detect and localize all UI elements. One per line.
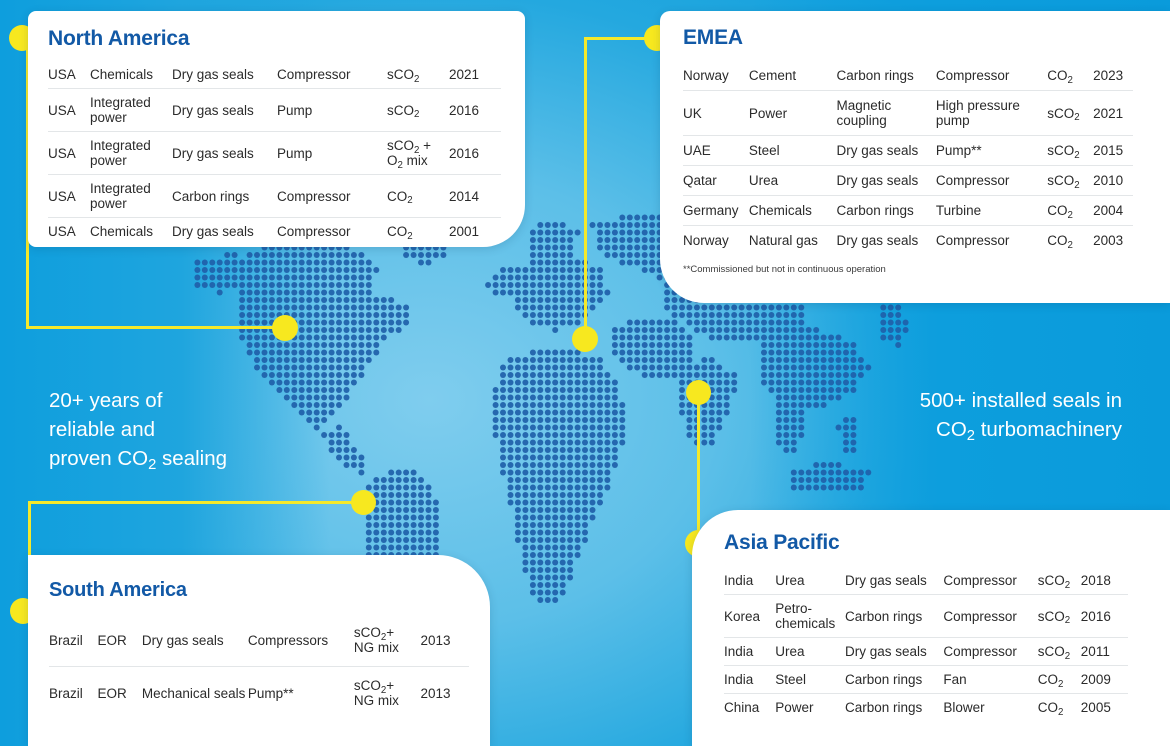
table-row: NorwayNatural gasDry gas sealsCompressor… xyxy=(683,226,1133,256)
cell-medium: sCO2 xyxy=(1038,567,1081,595)
cell-year: 2016 xyxy=(449,132,501,175)
cell-industry: Urea xyxy=(775,638,845,666)
connector-north-america-horizontal xyxy=(26,326,285,329)
cell-medium: sCO2 xyxy=(387,61,449,89)
cell-medium: sCO2 xyxy=(1038,638,1081,666)
cell-medium: sCO2+NG mix xyxy=(354,667,421,720)
cell-industry: Petro-chemicals xyxy=(775,595,845,638)
cell-year: 2004 xyxy=(1093,196,1133,226)
cell-seal-type: Dry gas seals xyxy=(836,136,935,166)
cell-industry: Urea xyxy=(775,567,845,595)
connector-south-america-horizontal xyxy=(28,501,364,504)
card-emea: EMEA NorwayCementCarbon ringsCompressorC… xyxy=(660,11,1170,303)
cell-industry: Cement xyxy=(749,61,837,91)
marker-south-america-map xyxy=(351,490,376,515)
cell-industry: Chemicals xyxy=(90,61,172,89)
cell-country: India xyxy=(724,638,775,666)
cell-equipment: Compressor xyxy=(943,595,1037,638)
cell-industry: Integrated power xyxy=(90,132,172,175)
cell-equipment: Pump** xyxy=(936,136,1047,166)
connector-emea-vertical xyxy=(584,37,587,339)
table-asia-pacific: IndiaUreaDry gas sealsCompressorsCO22018… xyxy=(724,567,1128,721)
cell-industry: Integrated power xyxy=(90,175,172,218)
card-north-america: North America USAChemicalsDry gas sealsC… xyxy=(28,11,525,247)
cell-year: 2013 xyxy=(421,667,470,720)
cell-year: 2011 xyxy=(1081,638,1128,666)
cell-equipment: Compressor xyxy=(277,61,387,89)
cell-country: USA xyxy=(48,218,90,246)
cell-industry: Steel xyxy=(775,666,845,694)
cell-medium: CO2 xyxy=(1047,61,1093,91)
card-title-asia-pacific: Asia Pacific xyxy=(724,531,1170,555)
table-row: UAESteelDry gas sealsPump**sCO22015 xyxy=(683,136,1133,166)
cell-medium: sCO2 xyxy=(1047,91,1093,136)
cell-year: 2003 xyxy=(1093,226,1133,256)
marker-north-america-map xyxy=(272,315,298,341)
cell-medium: CO2 xyxy=(1038,666,1081,694)
callout-left-line2: reliable and xyxy=(49,415,309,444)
cell-medium: sCO2 +O2 mix xyxy=(387,132,449,175)
cell-country: Korea xyxy=(724,595,775,638)
cell-seal-type: Carbon rings xyxy=(172,175,277,218)
table-row: IndiaUreaDry gas sealsCompressorsCO22018 xyxy=(724,567,1128,595)
cell-year: 2005 xyxy=(1081,694,1128,722)
callout-right: 500+ installed seals in CO2 turbomachine… xyxy=(832,386,1122,447)
table-row: USAChemicalsDry gas sealsCompressorCO220… xyxy=(48,218,501,246)
cell-medium: sCO2 xyxy=(1047,166,1093,196)
cell-industry: EOR xyxy=(97,667,141,720)
cell-industry: Natural gas xyxy=(749,226,837,256)
cell-medium: CO2 xyxy=(387,175,449,218)
cell-country: USA xyxy=(48,89,90,132)
cell-country: Norway xyxy=(683,226,749,256)
cell-medium: sCO2+NG mix xyxy=(354,614,421,667)
marker-emea-map xyxy=(572,326,598,352)
cell-seal-type: Dry gas seals xyxy=(836,226,935,256)
callout-left-line3: proven CO2 sealing xyxy=(49,444,309,476)
cell-equipment: Fan xyxy=(943,666,1037,694)
cell-country: Germany xyxy=(683,196,749,226)
callout-left: 20+ years of reliable and proven CO2 sea… xyxy=(49,386,309,476)
cell-medium: sCO2 xyxy=(1047,136,1093,166)
card-title-emea: EMEA xyxy=(683,26,1170,50)
cell-medium: CO2 xyxy=(1047,226,1093,256)
cell-medium: CO2 xyxy=(387,218,449,246)
cell-country: China xyxy=(724,694,775,722)
cell-medium: CO2 xyxy=(1038,694,1081,722)
cell-year: 2013 xyxy=(421,614,470,667)
cell-industry: Chemicals xyxy=(90,218,172,246)
table-row: BrazilEORMechanical sealsPump**sCO2+NG m… xyxy=(49,667,469,720)
callout-left-line1: 20+ years of xyxy=(49,386,309,415)
cell-industry: Power xyxy=(749,91,837,136)
marker-asia-pacific-map xyxy=(686,380,711,405)
cell-equipment: Pump xyxy=(277,132,387,175)
cell-year: 2001 xyxy=(449,218,501,246)
cell-country: USA xyxy=(48,175,90,218)
cell-year: 2023 xyxy=(1093,61,1133,91)
table-row: USAIntegrated powerDry gas sealsPumpsCO2… xyxy=(48,89,501,132)
cell-country: USA xyxy=(48,132,90,175)
cell-seal-type: Magnetic coupling xyxy=(836,91,935,136)
table-row: GermanyChemicalsCarbon ringsTurbineCO220… xyxy=(683,196,1133,226)
cell-year: 2009 xyxy=(1081,666,1128,694)
card-title-south-america: South America xyxy=(49,579,490,602)
cell-year: 2014 xyxy=(449,175,501,218)
cell-country: Brazil xyxy=(49,614,97,667)
cell-seal-type: Dry gas seals xyxy=(845,567,943,595)
cell-country: Qatar xyxy=(683,166,749,196)
cell-industry: Steel xyxy=(749,136,837,166)
table-row: KoreaPetro-chemicalsCarbon ringsCompress… xyxy=(724,595,1128,638)
cell-year: 2021 xyxy=(1093,91,1133,136)
cell-medium: sCO2 xyxy=(1038,595,1081,638)
cell-country: UAE xyxy=(683,136,749,166)
table-row: UKPowerMagnetic couplingHigh pressure pu… xyxy=(683,91,1133,136)
cell-equipment: Compressor xyxy=(943,567,1037,595)
table-row: IndiaUreaDry gas sealsCompressorsCO22011 xyxy=(724,638,1128,666)
table-south-america: BrazilEORDry gas sealsCompressorssCO2+NG… xyxy=(49,614,469,719)
card-south-america: South America BrazilEORDry gas sealsComp… xyxy=(28,555,490,746)
table-north-america: USAChemicalsDry gas sealsCompressorsCO22… xyxy=(48,61,501,245)
connector-asia-pacific-vertical xyxy=(697,391,700,543)
cell-equipment: Turbine xyxy=(936,196,1047,226)
table-row: USAChemicalsDry gas sealsCompressorsCO22… xyxy=(48,61,501,89)
cell-country: UK xyxy=(683,91,749,136)
cell-year: 2016 xyxy=(449,89,501,132)
callout-right-line1: 500+ installed seals in xyxy=(832,386,1122,415)
cell-seal-type: Dry gas seals xyxy=(172,132,277,175)
cell-seal-type: Carbon rings xyxy=(836,196,935,226)
cell-year: 2021 xyxy=(449,61,501,89)
cell-seal-type: Carbon rings xyxy=(836,61,935,91)
cell-country: USA xyxy=(48,61,90,89)
table-row: ChinaPowerCarbon ringsBlowerCO22005 xyxy=(724,694,1128,722)
cell-seal-type: Carbon rings xyxy=(845,694,943,722)
cell-seal-type: Dry gas seals xyxy=(172,89,277,132)
cell-seal-type: Dry gas seals xyxy=(836,166,935,196)
emea-footnote: **Commissioned but not in continuous ope… xyxy=(683,264,1170,275)
table-row: IndiaSteelCarbon ringsFanCO22009 xyxy=(724,666,1128,694)
cell-equipment: Compressor xyxy=(936,61,1047,91)
infographic-canvas: 20+ years of reliable and proven CO2 sea… xyxy=(0,0,1170,746)
cell-seal-type: Dry gas seals xyxy=(142,614,248,667)
cell-country: India xyxy=(724,666,775,694)
cell-seal-type: Mechanical seals xyxy=(142,667,248,720)
cell-seal-type: Carbon rings xyxy=(845,666,943,694)
cell-industry: EOR xyxy=(97,614,141,667)
cell-year: 2010 xyxy=(1093,166,1133,196)
cell-year: 2018 xyxy=(1081,567,1128,595)
card-title-north-america: North America xyxy=(48,27,525,51)
cell-year: 2016 xyxy=(1081,595,1128,638)
table-emea: NorwayCementCarbon ringsCompressorCO2202… xyxy=(683,61,1133,255)
cell-equipment: Pump xyxy=(277,89,387,132)
cell-equipment: Compressor xyxy=(943,638,1037,666)
cell-medium: CO2 xyxy=(1047,196,1093,226)
table-row: QatarUreaDry gas sealsCompressorsCO22010 xyxy=(683,166,1133,196)
cell-country: Norway xyxy=(683,61,749,91)
cell-equipment: Compressors xyxy=(248,614,354,667)
table-row: NorwayCementCarbon ringsCompressorCO2202… xyxy=(683,61,1133,91)
cell-equipment: High pressure pump xyxy=(936,91,1047,136)
cell-medium: sCO2 xyxy=(387,89,449,132)
cell-year: 2015 xyxy=(1093,136,1133,166)
cell-seal-type: Dry gas seals xyxy=(845,638,943,666)
cell-equipment: Compressor xyxy=(277,175,387,218)
table-row: USAIntegrated powerDry gas sealsPumpsCO2… xyxy=(48,132,501,175)
cell-equipment: Compressor xyxy=(936,166,1047,196)
cell-seal-type: Dry gas seals xyxy=(172,61,277,89)
cell-country: India xyxy=(724,567,775,595)
cell-equipment: Pump** xyxy=(248,667,354,720)
card-asia-pacific: Asia Pacific IndiaUreaDry gas sealsCompr… xyxy=(692,510,1170,746)
cell-industry: Integrated power xyxy=(90,89,172,132)
table-row: BrazilEORDry gas sealsCompressorssCO2+NG… xyxy=(49,614,469,667)
cell-equipment: Compressor xyxy=(277,218,387,246)
cell-seal-type: Carbon rings xyxy=(845,595,943,638)
table-row: USAIntegrated powerCarbon ringsCompresso… xyxy=(48,175,501,218)
callout-right-line2: CO2 turbomachinery xyxy=(832,415,1122,447)
cell-equipment: Compressor xyxy=(936,226,1047,256)
cell-industry: Urea xyxy=(749,166,837,196)
cell-seal-type: Dry gas seals xyxy=(172,218,277,246)
cell-equipment: Blower xyxy=(943,694,1037,722)
cell-industry: Power xyxy=(775,694,845,722)
cell-country: Brazil xyxy=(49,667,97,720)
cell-industry: Chemicals xyxy=(749,196,837,226)
